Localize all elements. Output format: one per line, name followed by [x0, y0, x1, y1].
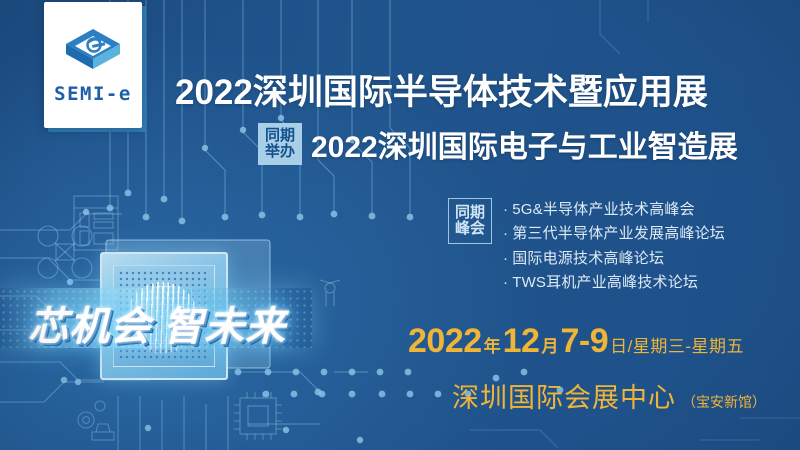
list-item[interactable]: ·5G&半导体产业技术高峰会 — [503, 199, 725, 220]
event-banner: 芯机会 智未来 SEMI-e 2022深圳国际半导体技术暨应用展 同期 举办 2… — [0, 0, 800, 450]
summit-badge-line1: 同期 — [455, 205, 485, 221]
page-title: 2022深圳国际半导体技术暨应用展 — [175, 64, 708, 115]
date-month-unit: 月 — [541, 332, 558, 357]
subtitle-row: 同期 举办 2022深圳国际电子与工业智造展 — [258, 122, 738, 166]
venue-name: 深圳国际会展中心 — [452, 376, 676, 415]
bullet-icon: · — [503, 250, 508, 267]
concurrent-badge-line1: 同期 — [265, 128, 295, 144]
forum-item-label: 第三代半导体产业发展高峰论坛 — [512, 225, 725, 242]
semi-e-wordmark: SEMI-e — [54, 83, 132, 105]
semi-e-logo[interactable]: SEMI-e — [44, 2, 142, 128]
event-venue: 深圳国际会展中心 （宝安新馆） — [452, 376, 766, 415]
slogan-text: 芯机会 智未来 — [28, 294, 286, 352]
bullet-icon: · — [503, 274, 508, 291]
bullet-icon: · — [503, 201, 508, 218]
semi-e-mark-icon — [63, 25, 123, 77]
date-days: 7-9 — [560, 322, 608, 361]
concurrent-badge-line2: 举办 — [265, 144, 295, 160]
date-weekday: 日/星期三-星期五 — [610, 332, 744, 357]
page-subtitle: 2022深圳国际电子与工业智造展 — [311, 122, 738, 166]
date-year-unit: 年 — [484, 332, 501, 357]
forum-section: 同期 峰会 ·5G&半导体产业技术高峰会 ·第三代半导体产业发展高峰论坛 ·国际… — [448, 198, 725, 293]
event-date: 2022 年 12 月 7-9 日/星期三-星期五 — [408, 322, 744, 361]
forum-item-label: 5G&半导体产业技术高峰会 — [512, 201, 695, 218]
list-item[interactable]: ·国际电源技术高峰论坛 — [503, 248, 725, 269]
date-month: 12 — [503, 322, 540, 361]
list-item[interactable]: ·TWS耳机产业高峰技术论坛 — [503, 272, 725, 293]
forum-item-label: 国际电源技术高峰论坛 — [512, 250, 664, 267]
date-year: 2022 — [408, 322, 482, 361]
concurrent-summit-badge: 同期 峰会 — [448, 198, 492, 244]
concurrent-event-badge: 同期 举办 — [258, 123, 302, 165]
list-item[interactable]: ·第三代半导体产业发展高峰论坛 — [503, 223, 725, 244]
forum-item-label: TWS耳机产业高峰技术论坛 — [512, 274, 698, 291]
forum-list: ·5G&半导体产业技术高峰会 ·第三代半导体产业发展高峰论坛 ·国际电源技术高峰… — [503, 198, 725, 293]
summit-badge-line2: 峰会 — [455, 221, 485, 237]
bullet-icon: · — [503, 225, 508, 242]
venue-hall: （宝安新馆） — [682, 392, 766, 412]
